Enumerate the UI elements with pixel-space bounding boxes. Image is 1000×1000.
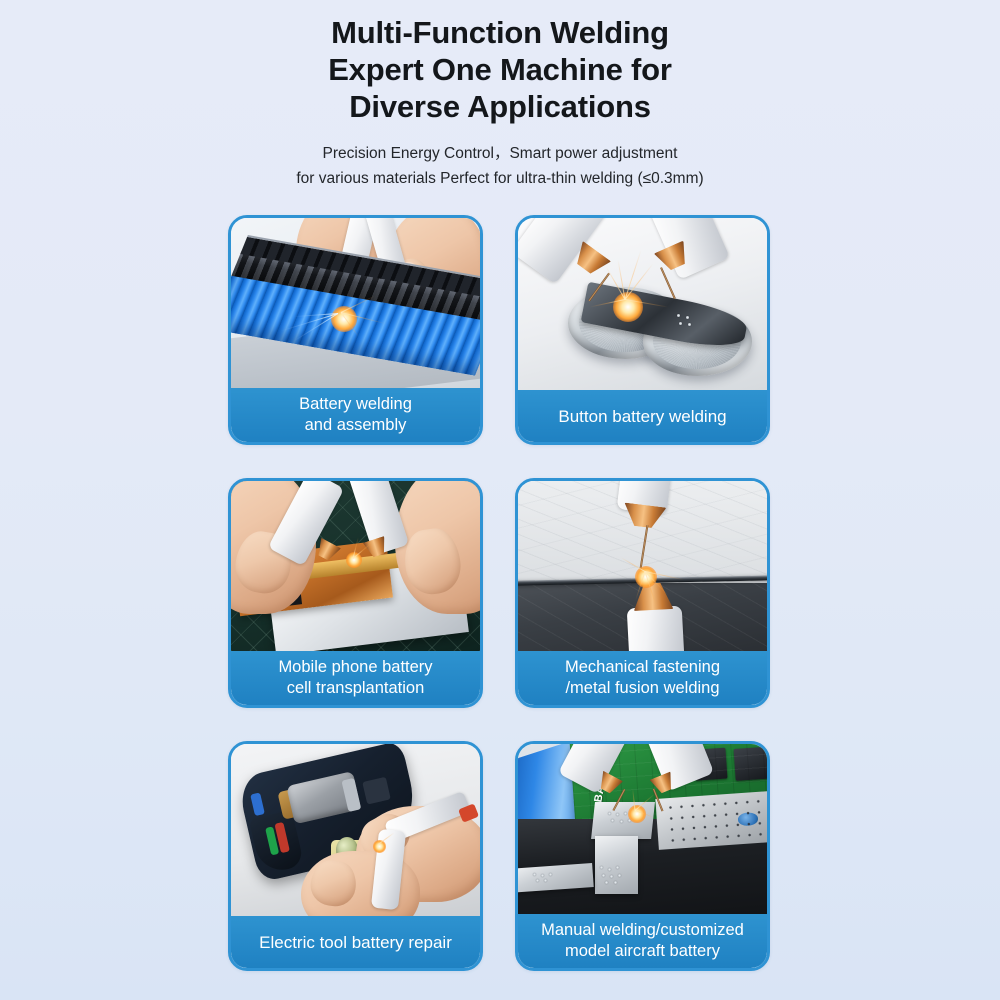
card-caption-manual-welding-customized-model-aircraft-battery: Manual welding/customized model aircraft…	[518, 914, 767, 968]
caption-line-2: cell transplantation	[278, 678, 432, 699]
card-caption-mechanical-fastening-metal-fusion-welding: Mechanical fastening /metal fusion weldi…	[518, 651, 767, 705]
page-subtitle-line-2: for various materials Perfect for ultra-…	[0, 166, 1000, 191]
page-subtitle: Precision Energy Control，Smart power adj…	[0, 141, 1000, 191]
caption-line-1: Electric tool battery repair	[259, 932, 452, 953]
card-caption-battery-welding-and-assembly: Battery welding and assembly	[231, 388, 480, 442]
page-header: Multi-Function Welding Expert One Machin…	[0, 0, 1000, 191]
card-electric-tool-battery-repair[interactable]: Electric tool battery repair	[228, 741, 483, 971]
caption-line-1: Button battery welding	[558, 406, 726, 427]
caption-line-1: Battery welding	[299, 394, 412, 415]
page-title-line-1: Multi-Function Welding	[0, 14, 1000, 51]
caption-line-2: /metal fusion welding	[565, 678, 720, 699]
application-card-grid: Battery welding and assembly	[228, 215, 770, 971]
card-button-battery-welding[interactable]: Button battery welding	[515, 215, 770, 445]
page-subtitle-line-1: Precision Energy Control，Smart power adj…	[0, 141, 1000, 166]
card-caption-button-battery-welding: Button battery welding	[518, 390, 767, 442]
page-title-line-3: Diverse Applications	[0, 88, 1000, 125]
card-mobile-phone-battery-cell-transplantation[interactable]: Mobile phone battery cell transplantatio…	[228, 478, 483, 708]
card-photo-pcb-bms-nickel-strip: BAT+	[518, 744, 767, 914]
caption-line-1: Mechanical fastening	[565, 657, 720, 678]
page-title: Multi-Function Welding Expert One Machin…	[0, 14, 1000, 125]
card-caption-mobile-phone-battery-cell-transplantation: Mobile phone battery cell transplantatio…	[231, 651, 480, 705]
card-manual-welding-customized-model-aircraft-battery[interactable]: BAT+	[515, 741, 770, 971]
caption-line-2: model aircraft battery	[541, 941, 744, 962]
card-photo-battery-pack-spot-welding	[231, 218, 480, 388]
card-caption-electric-tool-battery-repair: Electric tool battery repair	[231, 916, 480, 968]
card-photo-coin-cell-spot-welding	[518, 218, 767, 390]
caption-line-1: Manual welding/customized	[541, 920, 744, 941]
card-photo-disassembled-power-drill	[231, 744, 480, 916]
card-photo-metal-sheet-fusion	[518, 481, 767, 651]
card-mechanical-fastening-metal-fusion-welding[interactable]: Mechanical fastening /metal fusion weldi…	[515, 478, 770, 708]
page-title-line-2: Expert One Machine for	[0, 51, 1000, 88]
card-photo-phone-battery-on-cutting-mat	[231, 481, 480, 651]
caption-line-2: and assembly	[299, 415, 412, 436]
caption-line-1: Mobile phone battery	[278, 657, 432, 678]
card-battery-welding-and-assembly[interactable]: Battery welding and assembly	[228, 215, 483, 445]
